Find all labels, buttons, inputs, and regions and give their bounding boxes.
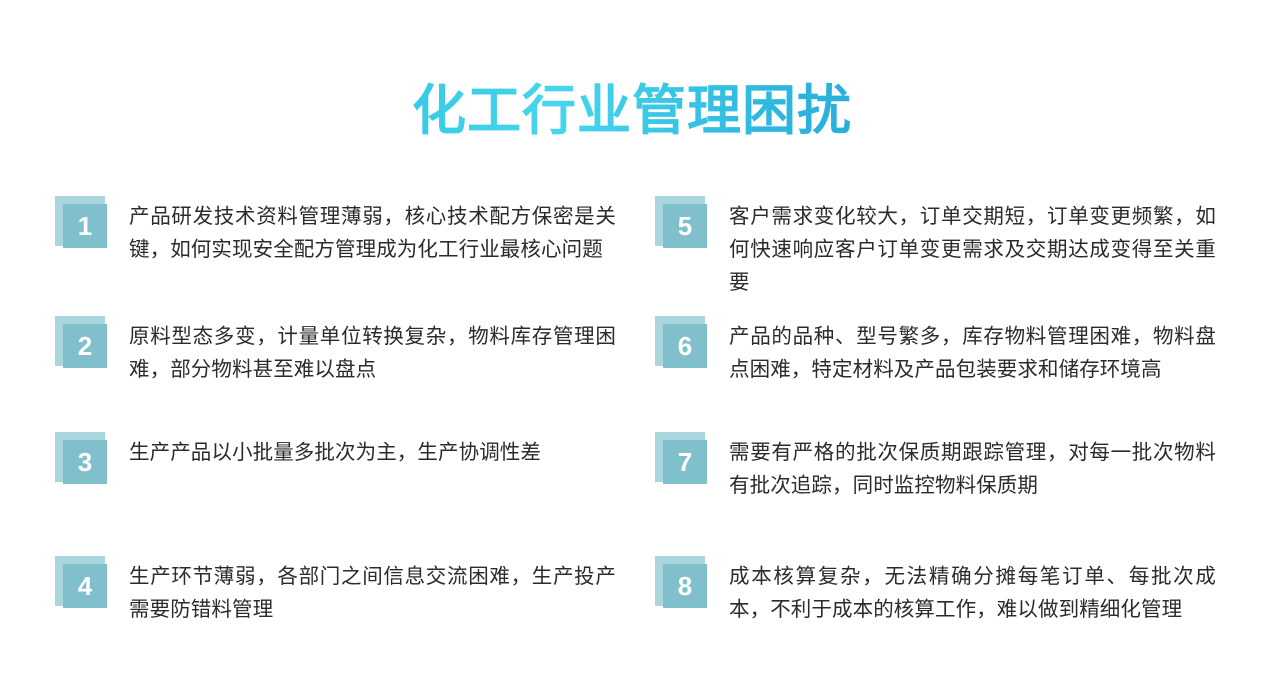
number-badge: 4	[55, 552, 113, 610]
badge-number: 5	[663, 204, 707, 248]
list-item-text: 生产产品以小批量多批次为主，生产协调性差	[129, 436, 616, 469]
list-item-text: 产品的品种、型号繁多，库存物料管理困难，物料盘点困难，特定材料及产品包装要求和储…	[729, 320, 1216, 386]
right-column: 5 客户需求变化较大，订单交期短，订单变更频繁，如何快速响应客户订单变更需求及交…	[655, 0, 1215, 687]
number-badge: 7	[655, 428, 713, 486]
list-item-text: 成本核算复杂，无法精确分摊每笔订单、每批次成本，不利于成本的核算工作，难以做到精…	[729, 560, 1216, 626]
list-item-text: 客户需求变化较大，订单交期短，订单变更频繁，如何快速响应客户订单变更需求及交期达…	[729, 200, 1216, 299]
number-badge: 8	[655, 552, 713, 610]
list-item-text: 产品研发技术资料管理薄弱，核心技术配方保密是关键，如何实现安全配方管理成为化工行…	[129, 200, 616, 266]
list-item-text: 生产环节薄弱，各部门之间信息交流困难，生产投产需要防错料管理	[129, 560, 616, 626]
badge-number: 2	[63, 324, 107, 368]
number-badge: 6	[655, 312, 713, 370]
list-item-text: 原料型态多变，计量单位转换复杂，物料库存管理困难，部分物料甚至难以盘点	[129, 320, 616, 386]
number-badge: 1	[55, 192, 113, 250]
badge-number: 3	[63, 440, 107, 484]
badge-number: 6	[663, 324, 707, 368]
number-badge: 3	[55, 428, 113, 486]
left-column: 1 产品研发技术资料管理薄弱，核心技术配方保密是关键，如何实现安全配方管理成为化…	[55, 0, 615, 687]
badge-number: 1	[63, 204, 107, 248]
badge-number: 7	[663, 440, 707, 484]
number-badge: 5	[655, 192, 713, 250]
number-badge: 2	[55, 312, 113, 370]
badge-number: 4	[63, 564, 107, 608]
badge-number: 8	[663, 564, 707, 608]
list-item-text: 需要有严格的批次保质期跟踪管理，对每一批次物料有批次追踪，同时监控物料保质期	[729, 436, 1216, 502]
slide-canvas: 化工行业管理困扰 1 产品研发技术资料管理薄弱，核心技术配方保密是关键，如何实现…	[0, 0, 1264, 687]
